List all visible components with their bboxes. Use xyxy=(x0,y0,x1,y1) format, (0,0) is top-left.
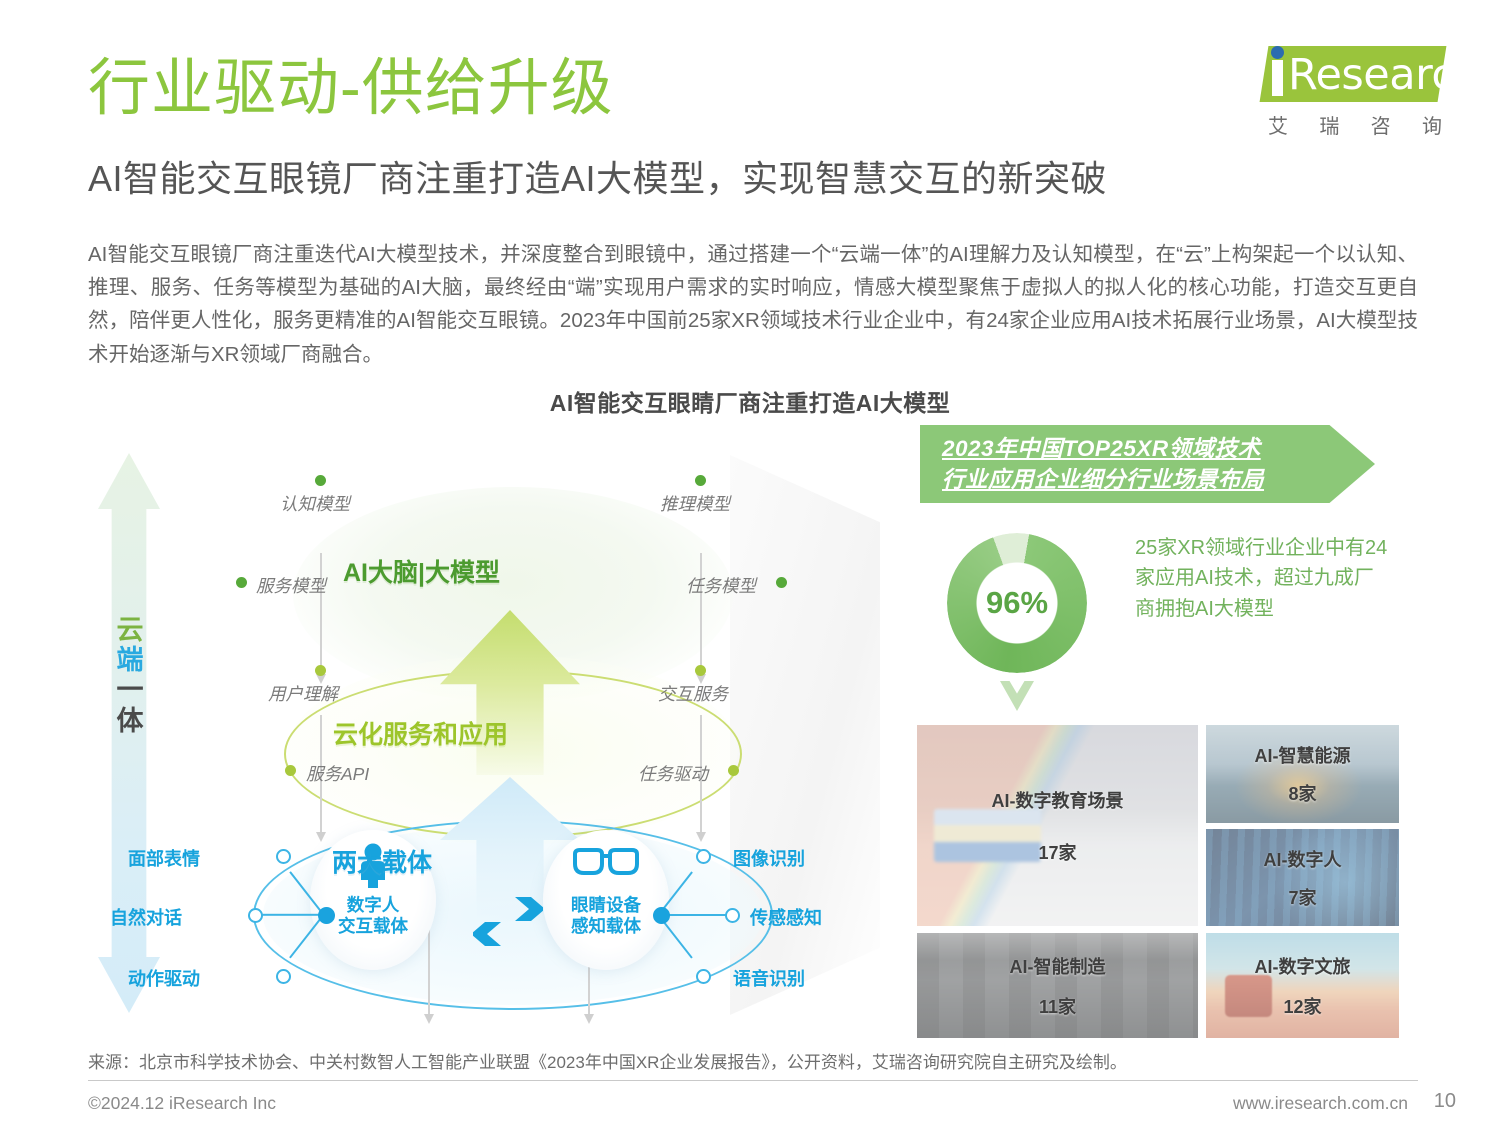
glasses-icon xyxy=(571,847,641,881)
spoke-node-voice-recognition xyxy=(696,969,711,984)
two-carriers-header: 两大载体 xyxy=(332,843,432,879)
cloud-service-header: 云化服务和应用 xyxy=(333,715,508,751)
card-title-energy: AI-智慧能源 xyxy=(1255,742,1351,768)
node-label-task-driven: 任务驱动 xyxy=(638,761,708,786)
vertical-label-char-1: 云 xyxy=(110,615,150,645)
card-title-education: AI-数字教育场景 xyxy=(992,787,1124,813)
card-overlay-tourism xyxy=(1206,933,1399,1038)
card-count-tourism: 12家 xyxy=(1283,993,1321,1019)
page-number: 10 xyxy=(1434,1090,1456,1113)
node-label-interaction-service: 交互服务 xyxy=(658,681,728,706)
chart-title: AI智能交互眼睛厂商注重打造AI大模型 xyxy=(0,384,1500,418)
card-overlay-digital-human xyxy=(1206,829,1399,926)
node-label-task-model: 任务模型 xyxy=(686,573,756,598)
card-title-manufacturing: AI-智能制造 xyxy=(1010,953,1106,979)
card-overlay-energy xyxy=(1206,725,1399,823)
node-dot-reasoning xyxy=(695,475,706,486)
adoption-donut-chart: 96% xyxy=(947,533,1087,673)
connector-line-1 xyxy=(320,553,322,675)
spoke-node-sensor-perception xyxy=(725,908,740,923)
cloud-edge-diagram: 云 端 一 体 认知模型 推理模型 AI大脑|大模型 服务模型 任务模型 用户理… xyxy=(88,425,888,1040)
carrier-right-label: 眼睛设备 感知载体 xyxy=(543,895,669,938)
logo-wordmark: Research xyxy=(1288,50,1481,100)
spoke-label-sensor-perception: 传感感知 xyxy=(750,904,822,930)
scenario-card-digital-human[interactable]: AI-数字人 7家 xyxy=(1206,829,1399,926)
logo-cn-char-4: 询 xyxy=(1422,110,1442,139)
node-dot-cognition xyxy=(315,475,326,486)
source-note: 来源：北京市科学技术协会、中关村数智人工智能产业联盟《2023年中国XR企业发展… xyxy=(88,1048,1418,1073)
logo-letter-i-dot-icon xyxy=(1271,46,1284,59)
card-overlay-manufacturing xyxy=(917,933,1198,1038)
spoke-hub-left xyxy=(318,907,335,924)
vertical-label-char-2: 端 xyxy=(110,645,150,675)
node-dot-service-api xyxy=(285,765,296,776)
vertical-label-char-4: 体 xyxy=(110,706,150,736)
logo-cn-char-1: 艾 xyxy=(1268,110,1288,139)
right-panel: 2023年中国TOP25XR领域技术 行业应用企业细分行业场景布局 96% 25… xyxy=(905,425,1405,1040)
spoke-label-facial-expression: 面部表情 xyxy=(128,845,200,871)
node-label-user-understanding: 用户理解 xyxy=(268,681,338,706)
logo-chinese-name: 艾 瑞 咨 询 xyxy=(1268,110,1442,139)
card-count-energy: 8家 xyxy=(1288,780,1316,806)
connector-line-2 xyxy=(700,553,702,675)
node-dot-task-model xyxy=(776,577,787,588)
body-paragraph: AI智能交互眼镜厂商注重迭代AI大模型技术，并深度整合到眼镜中，通过搭建一个“云… xyxy=(88,238,1418,371)
node-dot-task-driven xyxy=(728,765,739,776)
cloud-edge-label: 云 端 一 体 xyxy=(110,615,150,736)
spoke-node-natural-dialogue xyxy=(248,908,263,923)
scenario-card-grid: AI-数字教育场景 17家 AI-智慧能源 8家 AI-数字人 7家 AI-智能… xyxy=(917,725,1399,1038)
right-panel-header-banner: 2023年中国TOP25XR领域技术 行业应用企业细分行业场景布局 xyxy=(920,425,1375,503)
vertical-label-char-3: 一 xyxy=(110,675,150,705)
spoke-node-image-recognition xyxy=(696,849,711,864)
spoke-label-voice-recognition: 语音识别 xyxy=(733,965,805,991)
spoke-label-natural-dialogue: 自然对话 xyxy=(110,904,182,930)
right-panel-header-line2: 行业应用企业细分行业场景布局 xyxy=(942,464,1375,495)
carrier-right-label-line2: 感知载体 xyxy=(543,916,669,937)
node-dot-user-understanding xyxy=(315,665,326,676)
spoke-line-5 xyxy=(660,914,730,916)
spoke-label-motion-drive: 动作驱动 xyxy=(128,965,200,991)
node-dot-service-model xyxy=(236,577,247,588)
iresearch-logo: Research 艾 瑞 咨 询 xyxy=(1242,44,1442,148)
donut-percentage-label: 96% xyxy=(947,533,1087,673)
logo-letter-i-stem xyxy=(1272,60,1283,96)
spoke-hub-right xyxy=(653,907,670,924)
logo-cn-char-2: 瑞 xyxy=(1319,110,1339,139)
card-title-tourism: AI-数字文旅 xyxy=(1255,953,1351,979)
page-title: 行业驱动-供给升级 xyxy=(88,58,614,120)
website-url: www.iresearch.com.cn xyxy=(1233,1093,1408,1114)
card-count-manufacturing: 11家 xyxy=(1039,993,1076,1019)
copyright-text: ©2024.12 iResearch Inc xyxy=(88,1093,276,1114)
scenario-card-tourism[interactable]: AI-数字文旅 12家 xyxy=(1206,933,1399,1038)
down-arrow-icon xyxy=(1000,681,1034,711)
node-label-service-model: 服务模型 xyxy=(256,573,326,598)
right-panel-header-line1: 2023年中国TOP25XR领域技术 xyxy=(942,433,1375,464)
adoption-note: 25家XR领域行业企业中有24家应用AI技术，超过九成厂商拥抱AI大模型 xyxy=(1135,533,1390,624)
logo-cn-char-3: 咨 xyxy=(1371,110,1391,139)
logo-mark: Research xyxy=(1242,44,1442,106)
node-dot-interaction-service xyxy=(695,665,706,676)
node-label-cognition: 认知模型 xyxy=(280,491,350,516)
card-overlay-education xyxy=(917,725,1198,926)
spoke-node-facial-expression xyxy=(276,849,291,864)
footer-divider xyxy=(88,1080,1418,1081)
bidirectional-arrows-icon xyxy=(473,892,543,954)
node-label-reasoning: 推理模型 xyxy=(660,491,730,516)
scenario-card-education[interactable]: AI-数字教育场景 17家 xyxy=(917,725,1198,926)
node-label-service-api: 服务API xyxy=(306,761,369,786)
scenario-card-manufacturing[interactable]: AI-智能制造 11家 xyxy=(917,933,1198,1038)
card-count-education: 17家 xyxy=(1038,839,1076,865)
spoke-node-motion-drive xyxy=(276,969,291,984)
page-subtitle: AI智能交互眼镜厂商注重打造AI大模型，实现智慧交互的新突破 xyxy=(88,150,1107,202)
card-count-digital-human: 7家 xyxy=(1288,884,1316,910)
spoke-label-image-recognition: 图像识别 xyxy=(733,845,805,871)
carrier-right-label-line1: 眼睛设备 xyxy=(543,895,669,916)
scenario-card-energy[interactable]: AI-智慧能源 8家 xyxy=(1206,725,1399,823)
ai-brain-header: AI大脑|大模型 xyxy=(343,553,500,589)
card-title-digital-human: AI-数字人 xyxy=(1264,846,1342,872)
